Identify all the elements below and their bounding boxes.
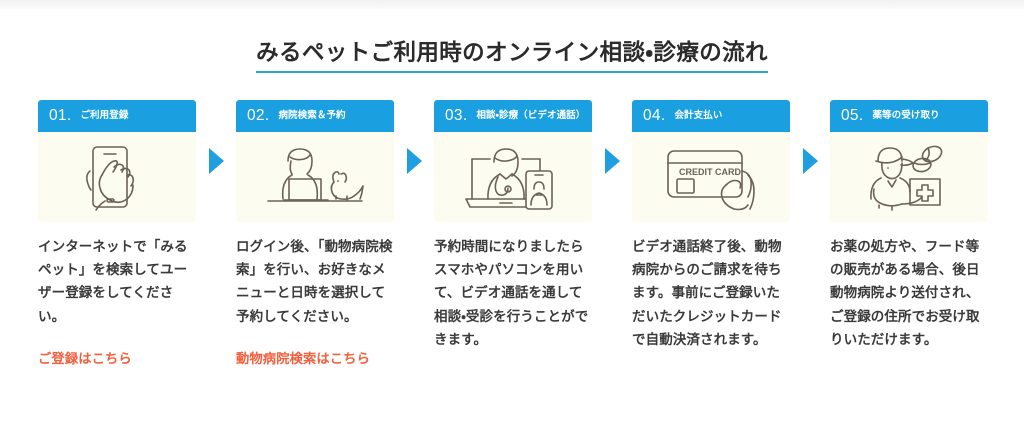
step-03-number: 03. [445,108,467,124]
delivery-person-with-medicine-box-icon [844,137,974,217]
step-01-text-column: インターネットで「みるペット」を検索してユーザー登録をしてください。 ご登録はこ… [38,235,196,370]
step-04-number: 04. [643,108,665,124]
step-02-text-column: ログイン後、「動物病院検索」を行い、お好きなメニューと日時を選択して予約してくだ… [236,235,394,370]
step-02-number: 02. [247,108,269,124]
step-04-header-label: 会計支払い [674,111,722,121]
step-card-02-body: 02. 病院検索＆予約 [236,100,394,222]
step-card-01: 01. ご利用登録 [38,100,196,222]
step-05-text-column: お薬の処方や、フード等の販売がある場合、後日動物病院より送付され、ご登録の住所で… [830,235,988,351]
arrow-right-triangle-icon [605,148,620,174]
flow-steps-row: 01. ご利用登録 [38,100,988,222]
step-card-03-body: 03. 相談・診療（ビデオ通話） [434,100,592,222]
step-02-body-text: ログイン後、「動物病院検索」を行い、お好きなメニューと日時を選択して予約してくだ… [236,235,394,328]
step-02-illustration [236,132,394,222]
step-card-05: 05. 薬等の受け取り [830,100,988,222]
arrow-right-triangle-icon [407,148,422,174]
step-01-illustration [38,132,196,222]
veterinarian-video-call-icon [448,137,578,217]
step-04-body-text: ビデオ通話終了後、動物病院からのご請求を待ちます。事前にご登録いただいたクレジッ… [632,235,790,351]
arrow-between-01-02 [196,100,236,174]
page-title-container: みるペットご利用時のオンライン相談・診療の流れ [0,20,1024,88]
page-title: みるペットご利用時のオンライン相談・診療の流れ [256,35,768,73]
step-04-text-column: ビデオ通話終了後、動物病院からのご請求を待ちます。事前にご登録いただいたクレジッ… [632,235,790,351]
step-card-04: 04. 会計支払い CREDIT CARD [632,100,790,222]
credit-card-label: CREDIT CARD [679,167,741,177]
step-04-illustration: CREDIT CARD [632,132,790,222]
person-at-laptop-with-dog-icon [250,137,380,217]
hand-holding-credit-card-icon: CREDIT CARD [646,137,776,217]
arrow-between-03-04 [592,100,632,174]
step-03-illustration [434,132,592,222]
step-05-header: 05. 薬等の受け取り [830,100,988,132]
step-01-body-text: インターネットで「みるペット」を検索してユーザー登録をしてください。 [38,235,196,328]
step-03-text-column: 予約時間になりましたらスマホやパソコンを用いて、ビデオ通話を通して相談・受診を行… [434,235,592,351]
step-03-header: 03. 相談・診療（ビデオ通話） [434,100,592,132]
step-card-01-body: 01. ご利用登録 [38,100,196,222]
step-02-hospital-search-link[interactable]: 動物病院検索はこちら [236,348,394,371]
step-04-header: 04. 会計支払い [632,100,790,132]
step-05-header-label: 薬等の受け取り [872,111,939,121]
step-03-body-text: 予約時間になりましたらスマホやパソコンを用いて、ビデオ通話を通して相談・受診を行… [434,235,592,351]
step-card-04-body: 04. 会計支払い CREDIT CARD [632,100,790,222]
step-03-header-label: 相談・診療（ビデオ通話） [476,111,585,121]
step-05-body-text: お薬の処方や、フード等の販売がある場合、後日動物病院より送付され、ご登録の住所で… [830,235,988,351]
arrow-between-02-03 [394,100,434,174]
flow-descriptions-row: インターネットで「みるペット」を検索してユーザー登録をしてください。 ご登録はこ… [38,235,988,370]
step-card-03: 03. 相談・診療（ビデオ通話） [434,100,592,222]
step-01-header: 01. ご利用登録 [38,100,196,132]
arrow-between-04-05 [790,100,830,174]
hand-tapping-smartphone-icon [57,137,177,217]
step-02-header: 02. 病院検索＆予約 [236,100,394,132]
arrow-right-triangle-icon [209,148,224,174]
step-02-header-label: 病院検索＆予約 [278,111,345,121]
step-01-number: 01. [49,108,71,124]
step-05-number: 05. [841,108,863,124]
step-card-05-body: 05. 薬等の受け取り [830,100,988,222]
step-card-02: 02. 病院検索＆予約 [236,100,394,222]
top-gradient-strip [0,0,1024,9]
step-05-illustration [830,132,988,222]
arrow-right-triangle-icon [803,148,818,174]
step-01-register-link[interactable]: ご登録はこちら [38,348,196,371]
step-01-header-label: ご利用登録 [80,111,128,121]
